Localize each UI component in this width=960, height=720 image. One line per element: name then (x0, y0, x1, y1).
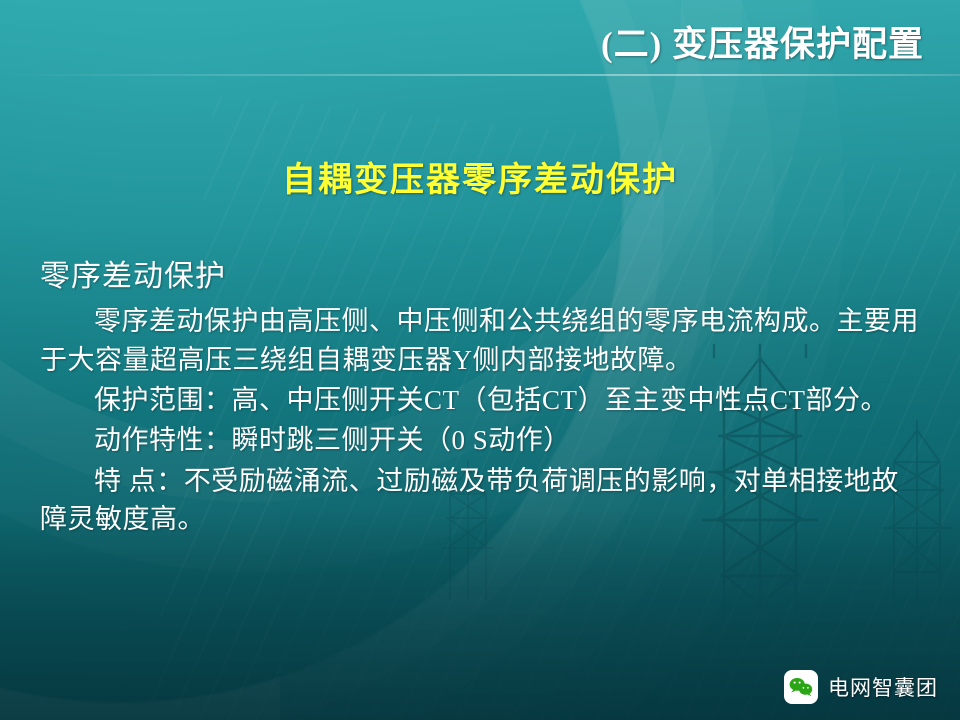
footer-brand-label: 电网智囊团 (828, 672, 938, 702)
slide-header-title: (二) 变压器保护配置 (601, 16, 924, 67)
body-paragraph: 零序差动保护由高压侧、中压侧和公共绕组的零序电流构成。主要用于大容量超高压三绕组… (40, 302, 924, 379)
slide-canvas: (二) 变压器保护配置 自耦变压器零序差动保护 零序差动保护 零序差动保护由高压… (0, 0, 960, 720)
footer-brand-badge: 电网智囊团 (784, 670, 938, 704)
header-divider (0, 74, 960, 76)
body-paragraph: 动作特性：瞬时跳三侧开关（0 S动作） (40, 421, 924, 459)
body-lead-heading: 零序差动保护 (40, 258, 924, 296)
body-paragraph: 保护范围：高、中压侧开关CT（包括CT）至主变中性点CT部分。 (40, 381, 924, 419)
wechat-icon (784, 670, 818, 704)
slide-body: 零序差动保护 零序差动保护由高压侧、中压侧和公共绕组的零序电流构成。主要用于大容… (34, 258, 924, 540)
body-paragraph: 特 点：不受励磁涌流、过励磁及带负荷调压的影响，对单相接地故障灵敏度高。 (40, 462, 924, 539)
slide-main-title: 自耦变压器零序差动保护 (0, 152, 960, 201)
